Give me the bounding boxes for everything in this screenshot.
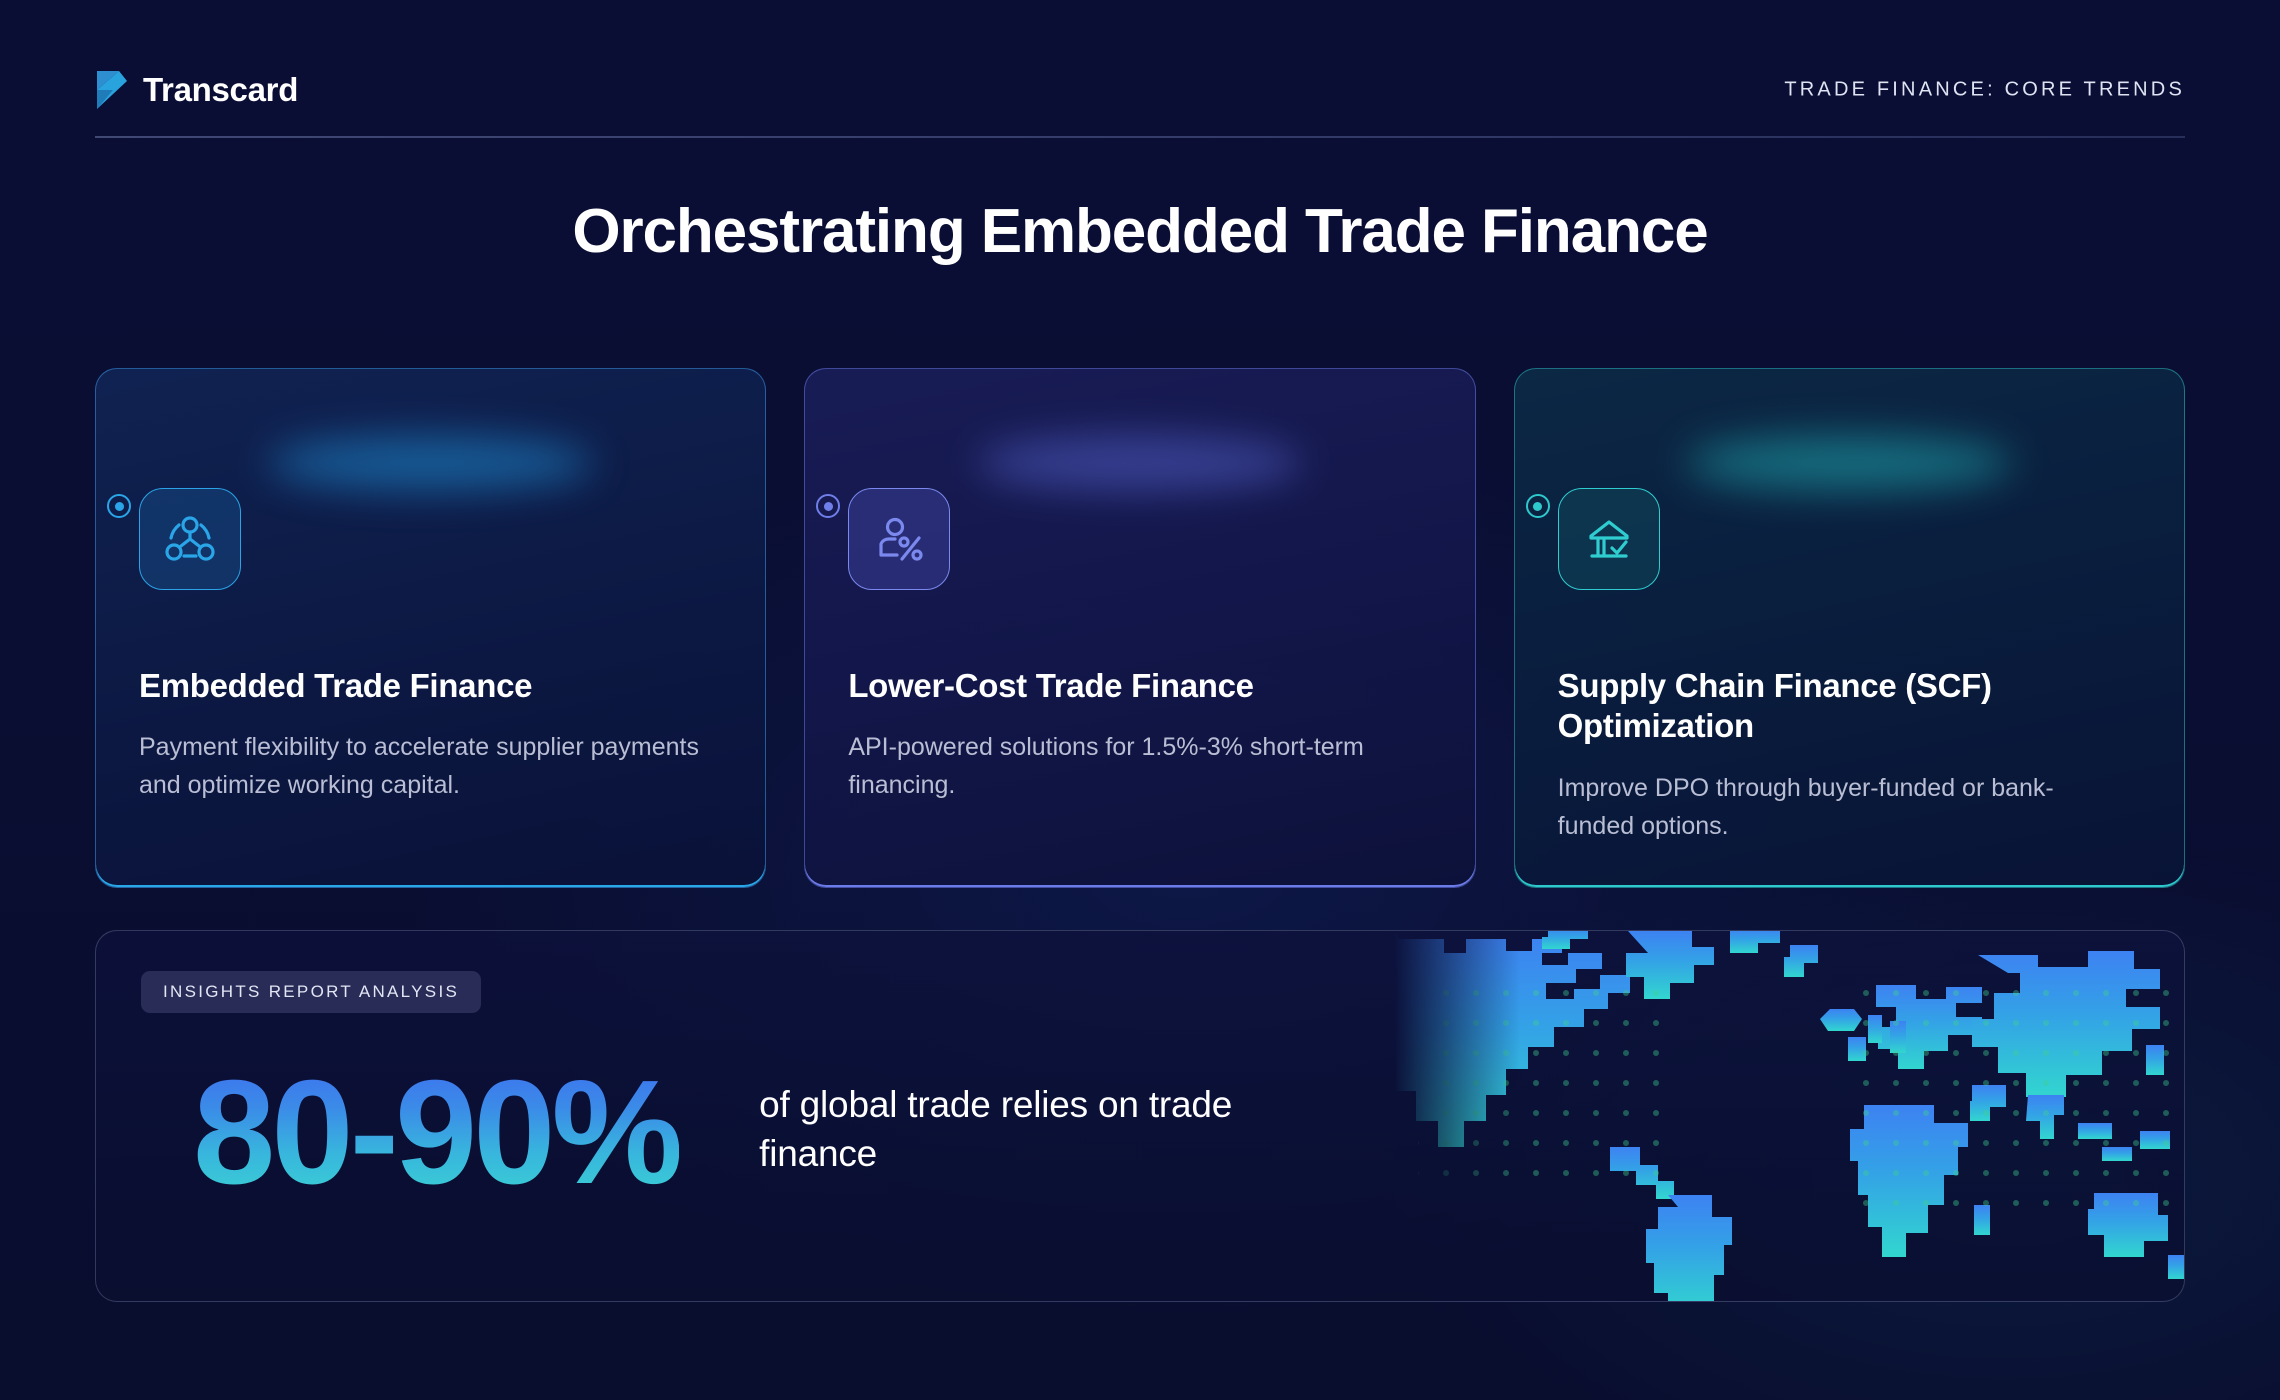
stat-row: 80-90% of global trade relies on trade f… (141, 1059, 1359, 1207)
card-surface (804, 368, 1475, 888)
card-body: Payment flexibility to accelerate suppli… (139, 728, 699, 804)
insights-badge: INSIGHTS REPORT ANALYSIS (141, 971, 481, 1013)
page-header: Transcard TRADE FINANCE: CORE TRENDS (95, 40, 2185, 140)
brand-logo[interactable]: Transcard (95, 69, 298, 111)
card-title: Supply Chain Finance (SCF) Optimization (1558, 666, 2141, 747)
brand-name: Transcard (143, 71, 298, 109)
header-divider (95, 136, 2185, 138)
network-nodes-icon (139, 488, 241, 590)
card-body: API-powered solutions for 1.5%-3% short-… (848, 728, 1408, 804)
feature-card-lower-cost-trade-finance[interactable]: Lower-Cost Trade Finance API-powered sol… (804, 368, 1475, 888)
feature-card-embedded-trade-finance[interactable]: Embedded Trade Finance Payment flexibili… (95, 368, 766, 888)
card-body: Improve DPO through buyer-funded or bank… (1558, 769, 2118, 845)
world-map-graphic-icon (1394, 931, 2184, 1302)
stat-caption: of global trade relies on trade finance (759, 1059, 1359, 1179)
card-title: Lower-Cost Trade Finance (848, 666, 1431, 706)
target-dot-icon (1526, 494, 1550, 518)
stat-figure: 80-90% (141, 1059, 679, 1207)
user-percent-icon (848, 488, 950, 590)
insights-stat-panel: INSIGHTS REPORT ANALYSIS 80-90% of globa… (95, 930, 2185, 1302)
bank-check-icon (1558, 488, 1660, 590)
card-title: Embedded Trade Finance (139, 666, 722, 706)
header-eyebrow: TRADE FINANCE: CORE TRENDS (1784, 79, 2185, 102)
transcard-chevron-logo-icon (95, 69, 129, 111)
page-title: Orchestrating Embedded Trade Finance (0, 196, 2280, 267)
feature-card-supply-chain-finance[interactable]: Supply Chain Finance (SCF) Optimization … (1514, 368, 2185, 888)
feature-card-list: Embedded Trade Finance Payment flexibili… (95, 368, 2185, 888)
target-dot-icon (107, 494, 131, 518)
card-surface (95, 368, 766, 888)
